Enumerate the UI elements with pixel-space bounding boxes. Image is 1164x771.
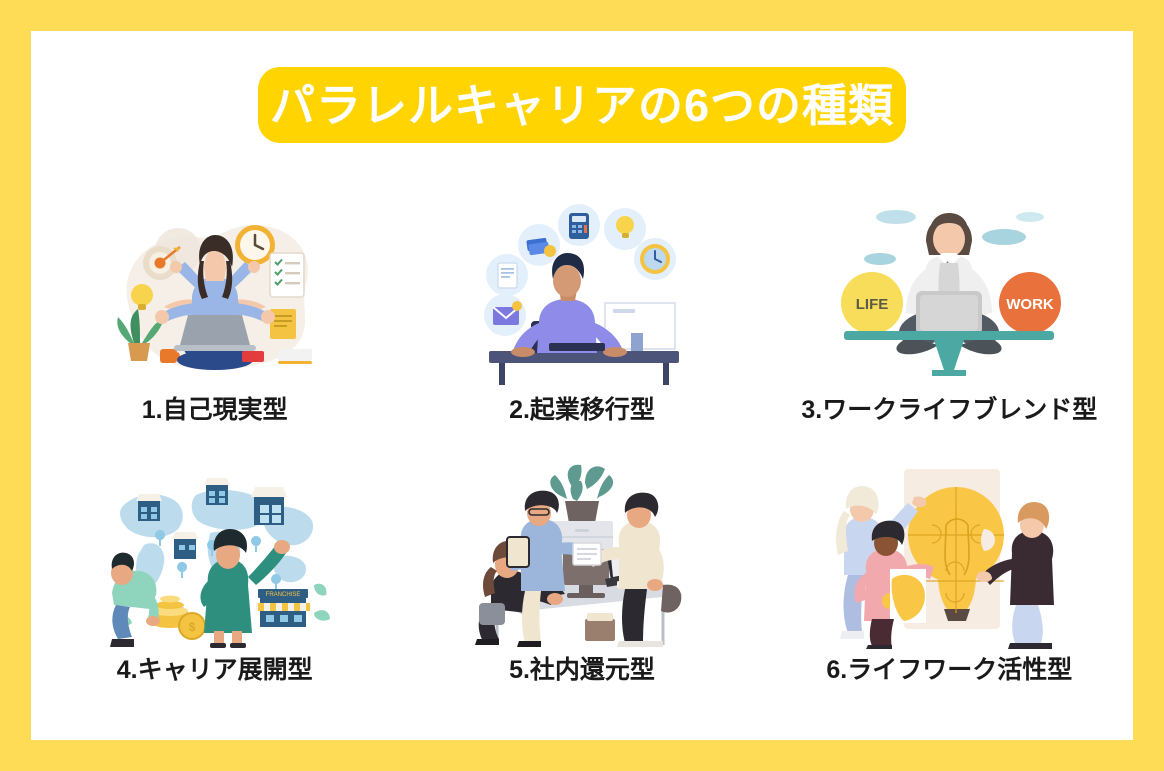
type-label-5: 5.社内還元型 [509, 650, 655, 686]
type-item-2[interactable]: 2.起業移行型 [398, 166, 765, 426]
office-team-handing-documents-icon [467, 463, 697, 648]
infographic-page: パラレルキャリアの6つの種類 [0, 0, 1164, 771]
type-label-3: 3.ワークライフブレンド型 [801, 390, 1097, 426]
type-label-2: 2.起業移行型 [509, 390, 655, 426]
content-area: パラレルキャリアの6つの種類 [31, 31, 1133, 740]
type-label-4: 4.キャリア展開型 [117, 650, 313, 686]
work-label: WORK [1007, 296, 1055, 313]
franchise-sign-label: FRANCHISE [265, 592, 300, 598]
type-label-1: 1.自己現実型 [142, 390, 288, 426]
title-banner: パラレルキャリアの6つの種類 [258, 67, 906, 143]
type-item-1[interactable]: 1.自己現実型 [31, 166, 398, 426]
svg-text:$: $ [188, 620, 195, 634]
man-at-desk-business-icons-icon [467, 203, 697, 388]
type-label-6: 6.ライフワーク活性型 [826, 650, 1072, 686]
global-franchise-expansion-map-icon: FRANCHISE [100, 463, 330, 648]
work-life-balance-seesaw-icon: LIFE WORK [834, 203, 1064, 388]
type-item-4[interactable]: FRANCHISE [31, 426, 398, 686]
types-grid: 1.自己現実型 [31, 166, 1133, 686]
team-assembling-lightbulb-puzzle-icon [834, 463, 1064, 648]
type-item-6[interactable]: 6.ライフワーク活性型 [766, 426, 1133, 686]
page-title: パラレルキャリアの6つの種類 [270, 83, 894, 128]
type-item-3[interactable]: LIFE WORK [766, 166, 1133, 426]
life-label: LIFE [856, 296, 889, 313]
type-item-5[interactable]: 5.社内還元型 [398, 426, 765, 686]
woman-multitasking-laptop-icon [100, 203, 330, 388]
